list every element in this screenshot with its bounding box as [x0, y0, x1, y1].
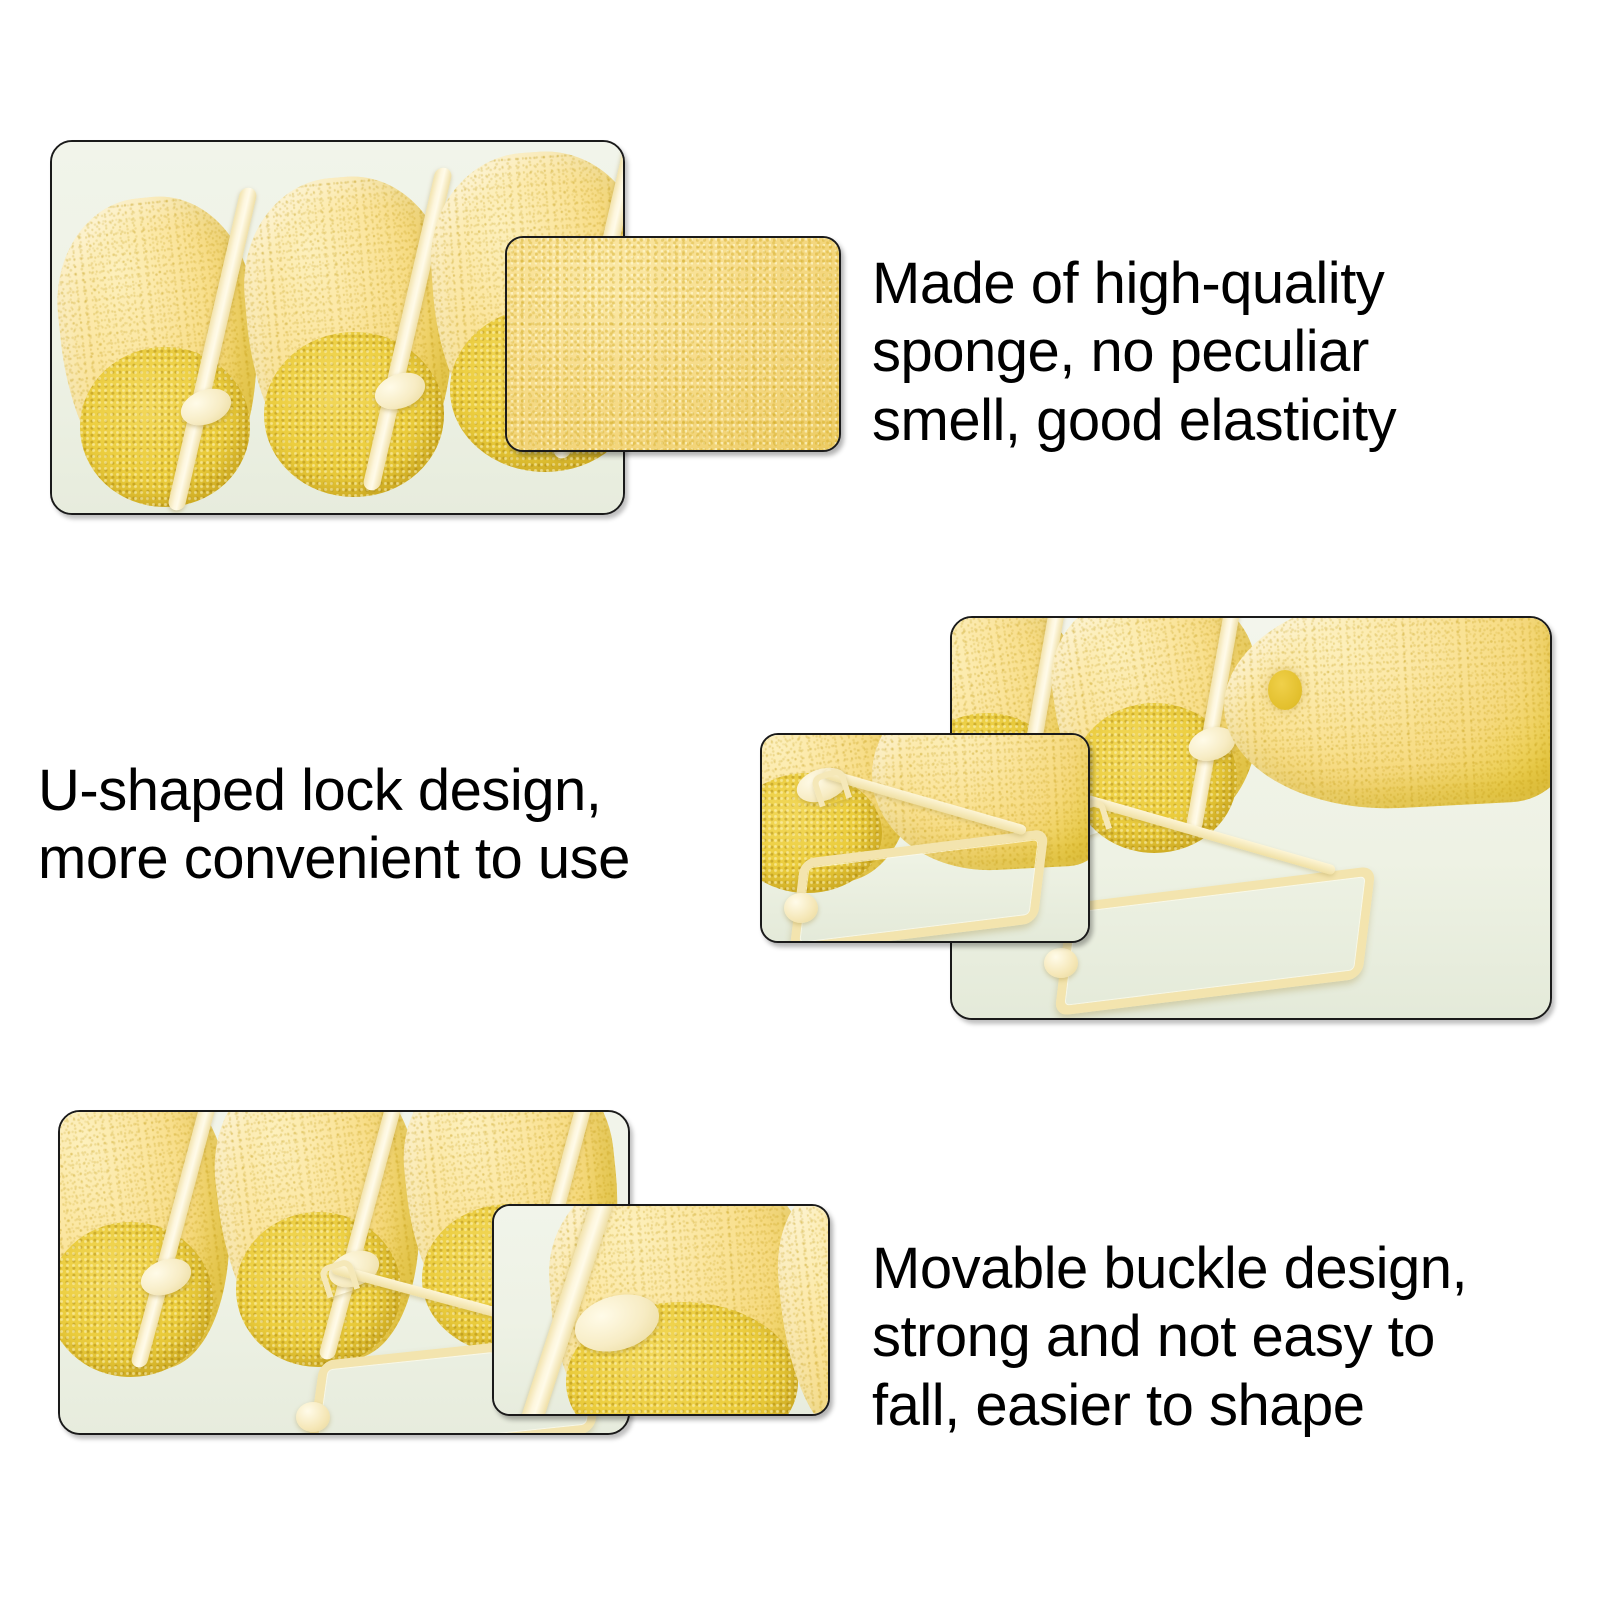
feature-3-text: Movable buckle design, strong and not ea… — [872, 1235, 1572, 1440]
feature-1-line-1: Made of high-quality — [872, 250, 1572, 318]
movable-buckle-tab — [296, 1402, 330, 1432]
feature-3-line-2: strong and not easy to — [872, 1303, 1572, 1371]
u-lock-tab — [784, 893, 818, 923]
feature-1-line-3: smell, good elasticity — [872, 387, 1572, 455]
u-lock-tab — [1044, 948, 1078, 978]
photo-buckle-closeup — [494, 1206, 828, 1414]
feature-3-line-3: fall, easier to shape — [872, 1372, 1572, 1440]
feature-2-line-1: U-shaped lock design, — [38, 757, 758, 825]
sponge-roller-end — [264, 332, 444, 497]
feature-2-inset-photo — [760, 733, 1090, 943]
photo-sponge-texture-macro — [507, 238, 839, 450]
sponge-roller-end — [80, 347, 250, 507]
sponge-roller-end — [236, 1212, 401, 1367]
feature-2-line-2: more convenient to use — [38, 825, 758, 893]
feature-1-text: Made of high-quality sponge, no peculiar… — [872, 250, 1572, 455]
feature-3-line-1: Movable buckle design, — [872, 1235, 1572, 1303]
feature-1-line-2: sponge, no peculiar — [872, 318, 1572, 386]
sponge-roller-hole — [1268, 670, 1302, 710]
feature-1-inset-photo — [505, 236, 841, 452]
photo-u-lock-closeup — [762, 735, 1088, 941]
feature-3-inset-photo — [492, 1204, 830, 1416]
feature-2-text: U-shaped lock design, more convenient to… — [38, 757, 758, 894]
